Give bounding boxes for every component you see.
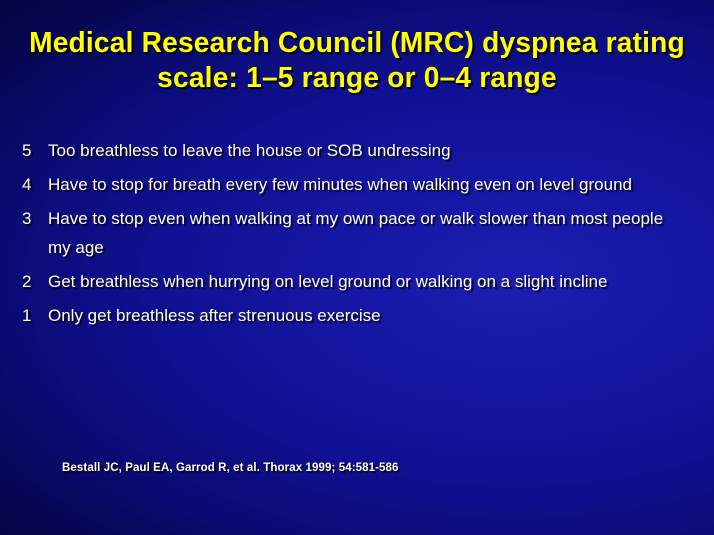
presentation-slide: Medical Research Council (MRC) dyspnea r…	[0, 0, 714, 535]
rating-number: 5	[22, 136, 48, 165]
list-item: 2 Get breathless when hurrying on level …	[22, 267, 694, 296]
rating-number: 4	[22, 170, 48, 199]
rating-description: Have to stop for breath every few minute…	[48, 170, 694, 199]
source-citation: Bestall JC, Paul EA, Garrod R, et al. Th…	[62, 461, 399, 476]
mrc-rating-scale-list: 5 Too breathless to leave the house or S…	[22, 136, 694, 335]
list-item: 4 Have to stop for breath every few minu…	[22, 170, 694, 199]
rating-description: Too breathless to leave the house or SOB…	[48, 136, 694, 165]
rating-number: 3	[22, 204, 48, 233]
rating-number: 2	[22, 267, 48, 296]
list-item: 1 Only get breathless after strenuous ex…	[22, 301, 694, 330]
slide-title-line-2: scale: 1–5 range or 0–4 range	[22, 61, 691, 96]
list-item: 5 Too breathless to leave the house or S…	[22, 136, 694, 165]
rating-description: Only get breathless after strenuous exer…	[48, 301, 694, 330]
slide-title-line-1: Medical Research Council (MRC) dyspnea r…	[22, 26, 691, 61]
list-item: 3 Have to stop even when walking at my o…	[22, 204, 694, 262]
rating-description: Have to stop even when walking at my own…	[48, 204, 694, 262]
rating-description: Get breathless when hurrying on level gr…	[48, 267, 694, 296]
slide-title: Medical Research Council (MRC) dyspnea r…	[12, 26, 702, 96]
rating-number: 1	[22, 301, 48, 330]
